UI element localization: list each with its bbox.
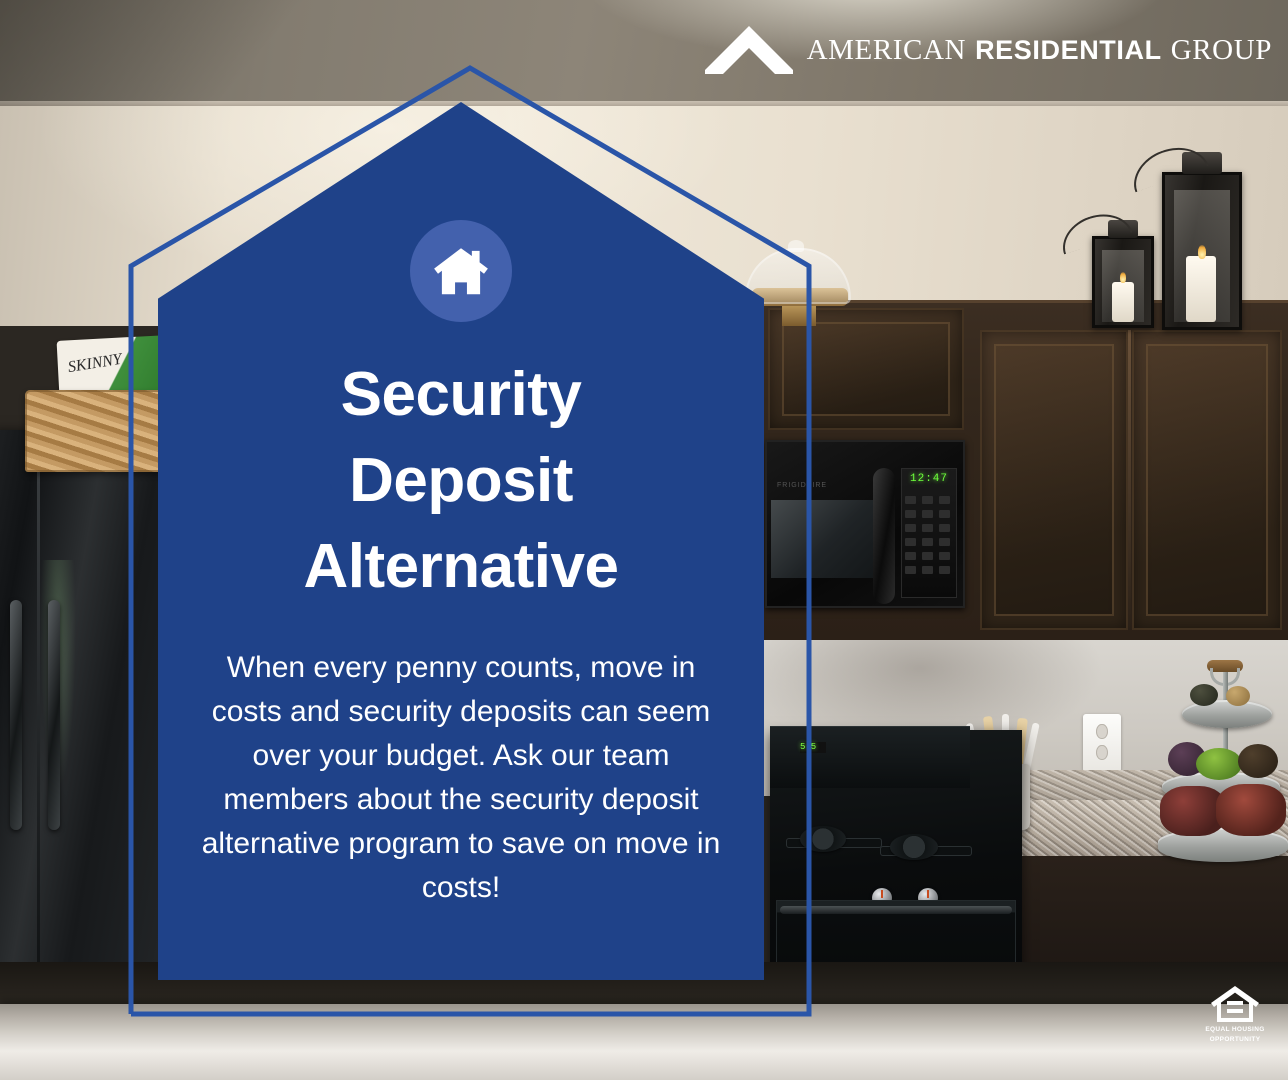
home-icon xyxy=(430,240,492,302)
electrical-outlet xyxy=(1083,714,1121,772)
microwave-display: 12:47 xyxy=(910,473,946,485)
microwave-handle xyxy=(873,468,895,604)
chevron-roof-logo-icon xyxy=(705,26,793,74)
equal-housing-line-1: EQUAL HOUSING xyxy=(1204,1026,1266,1034)
microwave-window xyxy=(771,500,875,578)
page-title: Security Deposit Alternative xyxy=(304,352,619,610)
brand-word-group: GROUP xyxy=(1171,34,1272,67)
snack-bag-text: SKINNY xyxy=(67,351,123,377)
cake-dome-knob xyxy=(788,240,804,252)
cabinet-seam xyxy=(1128,330,1131,630)
headline-line-3: Alternative xyxy=(304,524,619,610)
range-display: 5:5 xyxy=(800,742,826,753)
refrigerator-door-seam xyxy=(37,430,40,1030)
produce-mid-3 xyxy=(1238,744,1278,778)
marketing-graphic: FRIGIDAIRE 12:47 xyxy=(0,0,1288,1080)
cabinet-door-b xyxy=(980,330,1128,630)
produce-top-2 xyxy=(1226,686,1250,706)
range-backguard xyxy=(770,726,970,788)
candle-flame-large xyxy=(1198,245,1206,259)
produce-mid-2 xyxy=(1196,748,1242,780)
home-icon-badge xyxy=(410,220,512,322)
microwave-brand: FRIGIDAIRE xyxy=(777,482,827,489)
cabinet-door-a xyxy=(768,308,964,430)
foreground-ledge xyxy=(0,1004,1288,1080)
candle-large xyxy=(1186,256,1216,322)
cabinet-door-c xyxy=(1132,330,1282,630)
equal-housing-line-2: OPPORTUNITY xyxy=(1204,1036,1266,1044)
equal-housing-opportunity-logo: EQUAL HOUSING OPPORTUNITY xyxy=(1204,984,1266,1044)
refrigerator-handle-left xyxy=(10,600,22,830)
produce-bottom-2 xyxy=(1216,784,1286,836)
brand-word-residential: RESIDENTIAL xyxy=(975,35,1162,66)
refrigerator xyxy=(0,430,162,1030)
burner-2 xyxy=(890,834,938,860)
wicker-basket xyxy=(25,390,163,472)
ceiling-shadow xyxy=(0,0,320,120)
headline-line-2: Deposit xyxy=(304,438,619,524)
body-copy: When every penny counts, move in costs a… xyxy=(192,646,730,910)
microwave: FRIGIDAIRE 12:47 xyxy=(765,440,965,608)
microwave-keypad xyxy=(905,496,953,592)
produce-top-1 xyxy=(1190,684,1218,706)
candle-flame-small xyxy=(1120,272,1126,283)
burner-1 xyxy=(800,826,846,852)
candle-small xyxy=(1112,282,1134,322)
refrigerator-handle-right xyxy=(48,600,60,830)
brand-word-american: AMERICAN xyxy=(807,34,966,67)
oven-handle xyxy=(780,906,1012,914)
brand-logo: AMERICAN RESIDENTIAL GROUP xyxy=(705,26,1272,74)
brand-wordmark: AMERICAN RESIDENTIAL GROUP xyxy=(807,34,1272,67)
headline-line-1: Security xyxy=(304,352,619,438)
equal-housing-opportunity-icon xyxy=(1209,984,1261,1024)
